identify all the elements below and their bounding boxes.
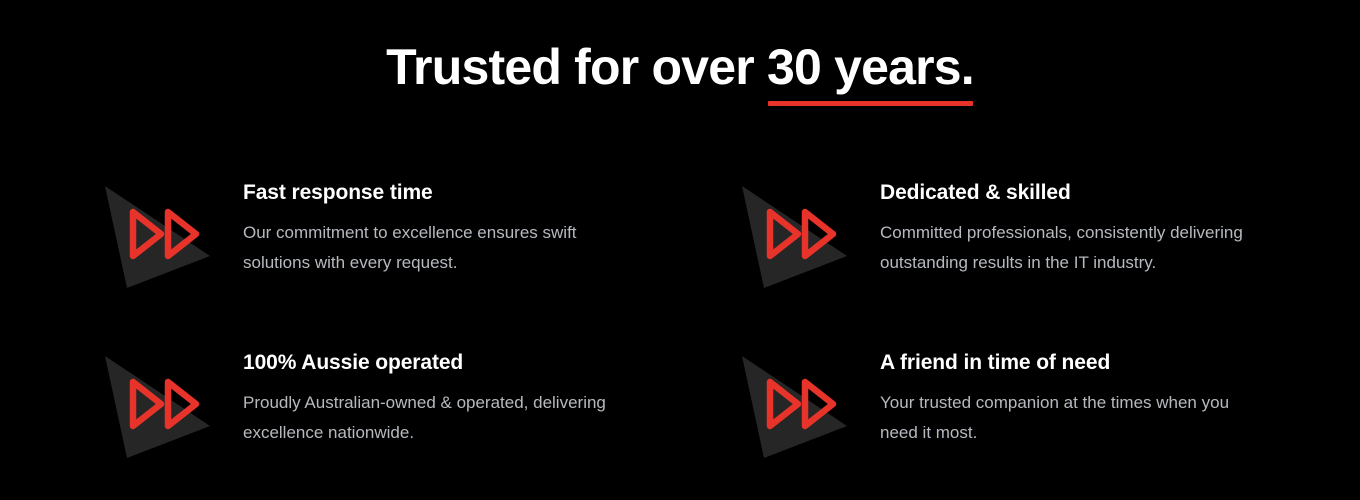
- feature-description: Committed professionals, consistently de…: [880, 218, 1250, 278]
- feature-description: Proudly Australian-owned & operated, del…: [243, 388, 633, 448]
- feature-body: Fast response time Our commitment to exc…: [243, 168, 735, 278]
- fast-forward-icon: [735, 174, 853, 292]
- feature-title: Fast response time: [243, 180, 735, 206]
- page-title: Trusted for over 30 years.: [386, 38, 974, 96]
- feature-item: 100% Aussie operated Proudly Australian-…: [98, 338, 735, 500]
- page-title-plain: Trusted for over: [386, 39, 767, 95]
- page-title-accent: 30 years.: [767, 38, 974, 96]
- fast-forward-icon: [98, 344, 216, 462]
- feature-item: A friend in time of need Your trusted co…: [735, 338, 1283, 500]
- trusted-section: Trusted for over 30 years. Fast response…: [0, 0, 1360, 500]
- feature-grid: Fast response time Our commitment to exc…: [98, 168, 1283, 500]
- feature-title: A friend in time of need: [880, 350, 1283, 376]
- feature-item: Fast response time Our commitment to exc…: [98, 168, 735, 338]
- fast-forward-icon: [98, 174, 216, 292]
- feature-description: Your trusted companion at the times when…: [880, 388, 1250, 448]
- feature-title: 100% Aussie operated: [243, 350, 735, 376]
- feature-body: Dedicated & skilled Committed profession…: [880, 168, 1283, 278]
- fast-forward-icon: [735, 344, 853, 462]
- accent-underline: [768, 101, 973, 106]
- page-title-accent-text: 30 years.: [767, 39, 974, 95]
- feature-description: Our commitment to excellence ensures swi…: [243, 218, 633, 278]
- feature-title: Dedicated & skilled: [880, 180, 1283, 206]
- feature-body: 100% Aussie operated Proudly Australian-…: [243, 338, 735, 448]
- feature-body: A friend in time of need Your trusted co…: [880, 338, 1283, 448]
- feature-item: Dedicated & skilled Committed profession…: [735, 168, 1283, 338]
- section-heading-wrapper: Trusted for over 30 years.: [0, 38, 1360, 96]
